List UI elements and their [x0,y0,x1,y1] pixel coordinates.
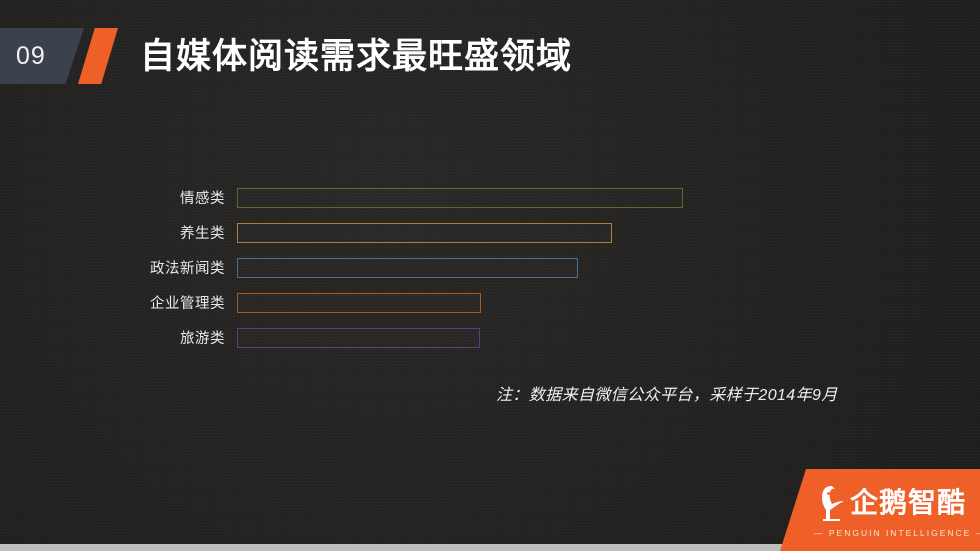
bar-track [237,188,980,208]
brand-name-cn: 企鹅智酷 [850,489,966,517]
bar-row: 政法新闻类 [0,250,980,285]
bar-label: 旅游类 [0,327,237,348]
bar-label: 情感类 [0,187,237,208]
slide-canvas: 09 自媒体阅读需求最旺盛领域 情感类 养生类 政法新闻类 企业管理类 [0,0,980,551]
bar-track [237,223,980,243]
bar-value [237,188,683,208]
brand-logo-content: 企鹅智酷 — PENGUIN INTELLIGENCE — [814,481,980,538]
chart-footnote: 注：数据来自微信公众平台，采样于2014年9月 [496,381,838,405]
bar-row: 养生类 [0,215,980,250]
bar-value [237,293,481,313]
bar-row: 旅游类 [0,320,980,355]
bar-track [237,328,980,348]
brand-name-en: — PENGUIN INTELLIGENCE — [814,528,980,538]
bar-track [237,258,980,278]
bar-value [237,258,578,278]
bar-label: 政法新闻类 [0,257,237,278]
penguin-icon [814,483,848,523]
slide-header: 09 自媒体阅读需求最旺盛领域 [0,28,572,84]
bar-label: 养生类 [0,222,237,243]
bar-label: 企业管理类 [0,292,237,313]
slide-number-badge: 09 [0,28,84,84]
bar-row: 情感类 [0,180,980,215]
bar-track [237,293,980,313]
slide-number: 09 [0,42,46,71]
bar-value [237,328,480,348]
brand-logo-banner: 企鹅智酷 — PENGUIN INTELLIGENCE — [780,469,980,551]
horizontal-bar-chart: 情感类 养生类 政法新闻类 企业管理类 旅游类 [0,180,980,355]
bar-value [237,223,612,243]
page-title: 自媒体阅读需求最旺盛领域 [140,39,572,74]
bar-row: 企业管理类 [0,285,980,320]
orange-slash-accent [78,28,118,84]
brand-logo-row: 企鹅智酷 [814,481,980,525]
